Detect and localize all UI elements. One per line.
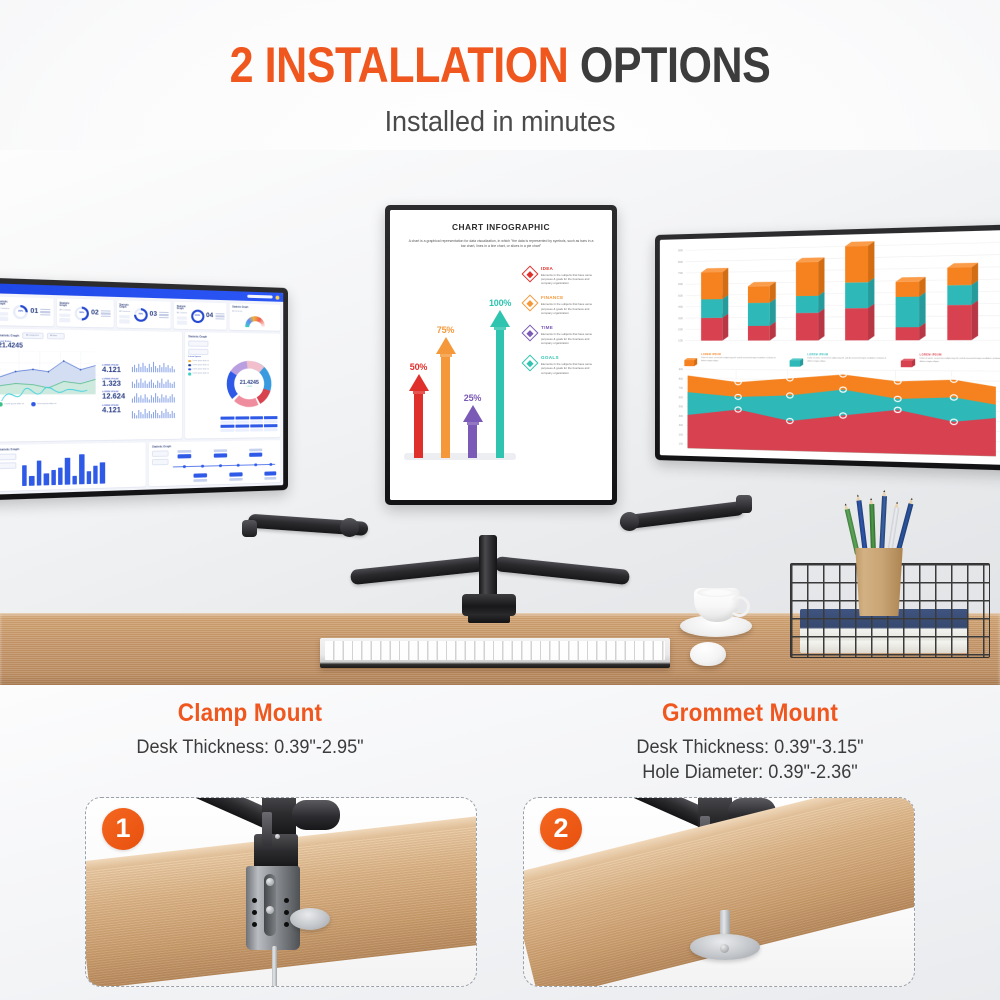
arrow-bar-finance: 75% [435,325,456,458]
legend-body: Elements in the subjects that have same … [541,273,600,286]
diamond-icon [522,295,539,312]
mount-spec: Desk Thickness: 0.39"-3.15" [518,735,983,760]
arrow-collar [467,422,479,425]
dashboard-kpi-row: Statistic Graph All Contents 25% 01 [0,297,280,331]
legend-item: LOREM IPSUM Dolor sit amet, consectetur … [790,353,888,363]
kpi-filter-chip[interactable] [60,318,71,322]
sparkline-column [131,343,179,437]
arrow-head [490,310,510,327]
kpi-title: Statistic Graph [60,303,73,308]
legend-label: Lorem ipsum dolor sit [37,403,56,405]
filter-category-select[interactable]: All categories [23,332,44,339]
bar-chart-legend: LOREM IPSUM Dolor sit amet, consectetur … [667,351,1000,367]
arrow-value-label: 25% [464,393,481,403]
area-chart [0,351,99,402]
arrow-bar-chart: 50% 75% [400,262,518,458]
legend-item: LOREM IPSUM Dolor sit amet, consectetur … [684,353,777,363]
mount-option-clamp-heading: Clamp Mount Desk Thickness: 0.39"-2.95" [0,699,500,785]
keyboard [320,638,670,668]
monitor-arm-center-pole [479,535,497,597]
mount-photos-row: 1 [0,797,1000,987]
infographic-title: CHART INFOGRAPHIC [400,222,602,232]
arrow-head [436,337,456,354]
svg-text:600: 600 [679,395,684,399]
legend-swatch [31,402,36,406]
dashboard-app: Statistic Graph All Contents 25% 01 [0,283,283,495]
legend-body: Dolor sit amet, consectetur adipiscing e… [807,357,887,363]
dashboard-search-bar[interactable] [247,294,272,298]
arrow-head [409,374,429,391]
sparkline-chart [131,361,177,373]
clamp-hardware [86,798,476,986]
kpi-ring-value: 75% [136,310,145,320]
monitor-center: CHART INFOGRAPHIC A chart is a graphical… [385,205,617,505]
kpi-placeholder-lines [215,313,224,319]
kpi-card[interactable]: Statistic Graph All Contents 75% 03 [117,300,172,329]
poster-canvas: 2 INSTALLATION OPTIONS Installed in minu… [0,0,1000,1000]
monitor-center-screen: CHART INFOGRAPHIC A chart is a graphical… [390,210,612,500]
panel-title: Statistic Graph [0,334,19,338]
clamp-mount-photo: 1 [85,797,477,987]
kpi-placeholder-lines [41,309,51,316]
legend-item: Lorem ipsum dolor sit [188,364,218,367]
svg-text:100: 100 [678,339,683,343]
monitor-left-screen: Statistic Graph All Contents 25% 01 [0,283,283,495]
mount-spec: Desk Thickness: 0.39"-2.95" [18,735,483,760]
monitor-right-screen: 900800700 600500400 300200100 [660,230,1000,466]
donut-delta: +3.5% [246,385,252,387]
timeline-chart [171,448,278,483]
svg-text:500: 500 [678,293,683,297]
arrow-value-label: 75% [437,325,454,335]
panel-title: Statistic Graph [188,335,207,338]
stacked-area-chart: 900800700 600500400 300200100 [667,365,1000,463]
sparkline-chart [131,376,177,388]
svg-text:200: 200 [678,327,683,331]
legend-item: Lorem ipsum dolor sit [188,368,218,371]
step-badge-2: 2 [540,808,582,850]
table-row [221,420,278,424]
kpi-filter-chip[interactable] [119,315,130,319]
diamond-icon [522,265,539,282]
monitor-left: Statistic Graph All Contents 25% 01 [0,277,288,500]
legend-item-idea: IDEA Elements in the subjects that have … [524,266,600,286]
svg-text:500: 500 [679,405,684,409]
donut-filter-select[interactable] [188,340,208,346]
legend-label: Lorem ipsum dolor sit [192,373,208,375]
filter-date-select[interactable]: All data [47,333,65,340]
panel-donut-graph: Statistic Graph Lorem Ipsum Lor [185,332,280,439]
monitor-arm-joint-left [340,518,359,537]
kpi-placeholder-lines [159,312,168,318]
arrow-value-label: 100% [489,298,511,308]
diamond-icon [522,325,539,342]
arrow-head [463,405,483,422]
svg-text:900: 900 [679,368,684,372]
sparkline-chart [131,406,177,418]
stat-value: 1.323 [102,380,128,387]
legend-label: Lorem ipsum dolor sit [192,364,208,366]
svg-text:400: 400 [679,414,684,418]
svg-text:100: 100 [679,442,684,446]
panel-bar-graph: Statistic Graph [0,442,146,491]
kpi-donut-gauge: 100% [191,309,204,323]
pencil-cup [852,548,906,616]
infographic-description: A chart is a graphical representation fo… [406,239,596,250]
grommet-screw [720,944,729,953]
kpi-card[interactable]: Statistic Graph All Contents 100% 04 [174,302,227,330]
kpi-sub: All Contents [60,309,73,311]
arrow-bar-idea: 50% [408,362,429,458]
mount-spec-secondary: Hole Diameter: 0.39"-2.36" [518,760,983,785]
legend-item: Lorem ipsum dolor sit [188,373,218,376]
donut-range-select[interactable] [188,348,208,354]
kpi-donut-gauge: 50% [75,306,89,320]
total-sales-value: 21.4245 [0,343,99,351]
bar-chart [19,452,108,487]
legend-body: Dolor sit amet, consectetur adipiscing e… [920,358,1000,364]
photo-wrap-clamp: 1 [62,797,500,987]
kpi-sub: All Contents [177,312,189,314]
stat-value: 12.624 [102,393,128,400]
arrow-collar [494,327,506,330]
kpi-card[interactable]: Statistic Graph All Contents 50% 02 [57,298,114,327]
dashboard-avatar[interactable] [276,295,280,299]
legend-swatch-3d [901,353,916,362]
pencil [879,496,887,554]
page-title: 2 INSTALLATION OPTIONS [70,40,930,90]
donut-center-label: 21.4245 +3.5% [224,357,275,410]
svg-text:700: 700 [678,271,683,275]
legend-body: Elements in the subjects that have same … [541,362,600,375]
mount-option-grommet-heading: Grommet Mount Desk Thickness: 0.39"-3.15… [500,699,1000,785]
flow-filter-select[interactable] [152,450,169,457]
legend-label: LOREM IPSUM [807,353,887,356]
legend-item: LOREM IPSUM Dolor sit amet, consectetur … [901,353,1000,364]
arrow-stem [414,394,422,458]
legend-swatch-3d [790,353,805,361]
legend-title: IDEA [541,266,600,271]
svg-text:200: 200 [679,433,684,437]
kpi-sub: All Contents [119,311,131,313]
step-badge-1: 1 [102,808,144,850]
keyboard-keys [325,641,665,660]
arrow-collar [413,391,425,394]
legend-item: Lorem ipsum dolor sit [31,402,56,406]
legend-body: Dolor sit amet, consectetur adipiscing e… [701,357,777,363]
pencils [852,492,908,554]
legend-item: Lorem ipsum dolor sit [188,360,218,363]
kpi-title: Statistic Graph [0,302,11,307]
arrow-collar [440,354,452,357]
arrow-stem [496,330,504,458]
donut-legend: Lorem ipsum dolor sit Lorem ipsum dolor … [188,360,218,376]
monitor-arm-desk-base [462,594,516,616]
legend-title: GOALS [541,355,600,360]
legend-title: FINANCE [541,295,600,300]
page-subtitle: Installed in minutes [35,106,965,139]
legend-label: LOREM IPSUM [701,353,777,356]
legend-label: LOREM IPSUM [920,353,1000,356]
panel-title: Statistic Graph [0,448,19,452]
stat-value: 4.121 [102,367,128,375]
kpi-index: 03 [150,311,157,318]
kpi-card[interactable]: Statistic Graph All Contents 25% 01 [0,297,53,327]
monitor-arm-endcap-left [242,520,257,537]
arrow-stem [468,425,476,458]
table-row [221,428,278,432]
bar-filter-select[interactable] [0,453,16,460]
donut-legend-title: Lorem Ipsum [188,355,218,357]
legend-item-time: TIME Elements in the subjects that have … [524,325,600,345]
kpi-placeholder-lines [101,310,111,317]
arrow-bar-goals: 100% [489,298,511,458]
svg-text:300: 300 [679,423,684,427]
kpi-title: Statistic Graph [119,305,131,310]
legend-item: Lorem ipsum dolor sit [0,402,24,406]
kpi-sub: All Contents [232,311,242,313]
kpi-filter-chip[interactable] [177,316,187,320]
clamp-washer [290,908,330,930]
speed-gauge [245,316,265,328]
monitor-arm-endcap-right [736,495,752,513]
kpi-index: 01 [30,308,38,315]
kpi-index: 04 [206,313,213,320]
table-row [221,416,278,420]
kpi-ring-value: 100% [193,311,202,320]
kpi-ring-value: 25% [15,307,25,317]
kpi-filter-chip[interactable] [119,320,130,324]
stacked-3d-bar-chart: 900800700 600500400 300200100 [667,235,1000,351]
kpi-donut-gauge: 25% [13,304,28,319]
infographic-legend: IDEA Elements in the subjects that have … [518,262,602,458]
svg-text:700: 700 [679,386,684,390]
svg-text:800: 800 [678,260,683,264]
svg-text:400: 400 [678,305,683,309]
kpi-title: Statistic Graph [232,306,248,308]
legend-title: TIME [541,325,600,330]
bar-range-select[interactable] [0,462,16,469]
legend-swatch-3d [684,353,698,361]
panel-flow-graph: Statistic Graph [149,440,280,486]
headline-rest: OPTIONS [580,37,771,93]
arrow-stem [441,357,449,458]
sparkline-chart [131,391,177,403]
mount-title: Clamp Mount [25,699,475,728]
grommet-mount-photo: 2 [523,797,915,987]
pencil [869,504,876,554]
svg-text:900: 900 [678,248,683,252]
kpi-filter-chip[interactable] [0,317,9,321]
kpi-title: Statistic Graph [177,306,189,310]
poster-header: 2 INSTALLATION OPTIONS Installed in minu… [0,0,1000,185]
legend-item-finance: FINANCE Elements in the subjects that ha… [524,295,600,315]
stat-value: 4.121 [102,407,128,415]
legend-label: Lorem ipsum dolor sit [192,369,208,371]
kpi-ring-value: 50% [77,308,87,318]
clamp-bolt [272,946,277,987]
kpi-filter-chip[interactable] [0,312,9,316]
donut-chart: 21.4245 +3.5% [224,357,275,410]
headline-highlight: 2 INSTALLATION [230,37,569,93]
legend-body: Elements in the subjects that have same … [541,332,600,345]
charts-presentation: 900800700 600500400 300200100 [660,230,1000,466]
legend-swatch [0,402,3,406]
panel-title: Statistic Graph [152,445,171,448]
flow-range-select[interactable] [152,458,169,465]
panel-statistic-graph: Statistic Graph All categories All data … [0,329,182,442]
table-header-row [221,412,278,416]
mouse [690,642,726,666]
kpi-filter-chip[interactable] [177,321,187,325]
legend-label: Lorem ipsum dolor sit [4,403,24,405]
kpi-card-gauge[interactable]: Statistic Graph All Contents [230,303,281,331]
arrow-bar-time: 25% [462,393,483,458]
legend-body: Elements in the subjects that have same … [541,302,600,315]
svg-text:800: 800 [679,377,684,381]
kpi-sub: All Contents [0,308,11,311]
mount-options-section: Clamp Mount Desk Thickness: 0.39"-2.95" … [0,685,1000,1000]
legend-label: Lorem ipsum dolor sit [192,360,208,362]
svg-text:300: 300 [678,316,683,320]
kpi-donut-gauge: 75% [134,307,148,321]
photo-wrap-grommet: 2 [500,797,938,987]
kpi-index: 02 [91,310,99,317]
product-scene: Statistic Graph All Contents 25% 01 [0,150,1000,685]
monitor-right: 900800700 600500400 300200100 [655,224,1000,471]
diamond-icon [522,355,539,372]
svg-text:600: 600 [678,282,683,286]
arrow-value-label: 50% [410,362,427,372]
mount-title: Grommet Mount [525,699,975,728]
stat-value-column: LOREM IPSUM 4.121 LOREM IPSUM 1.323 [102,342,128,437]
mini-data-table [221,412,278,433]
chart-infographic: CHART INFOGRAPHIC A chart is a graphical… [390,210,612,500]
mount-titles-row: Clamp Mount Desk Thickness: 0.39"-2.95" … [0,685,1000,785]
legend-item-goals: GOALS Elements in the subjects that have… [524,355,600,375]
monitor-arm-joint-right [620,512,639,531]
kpi-filter-chip[interactable] [60,313,71,317]
